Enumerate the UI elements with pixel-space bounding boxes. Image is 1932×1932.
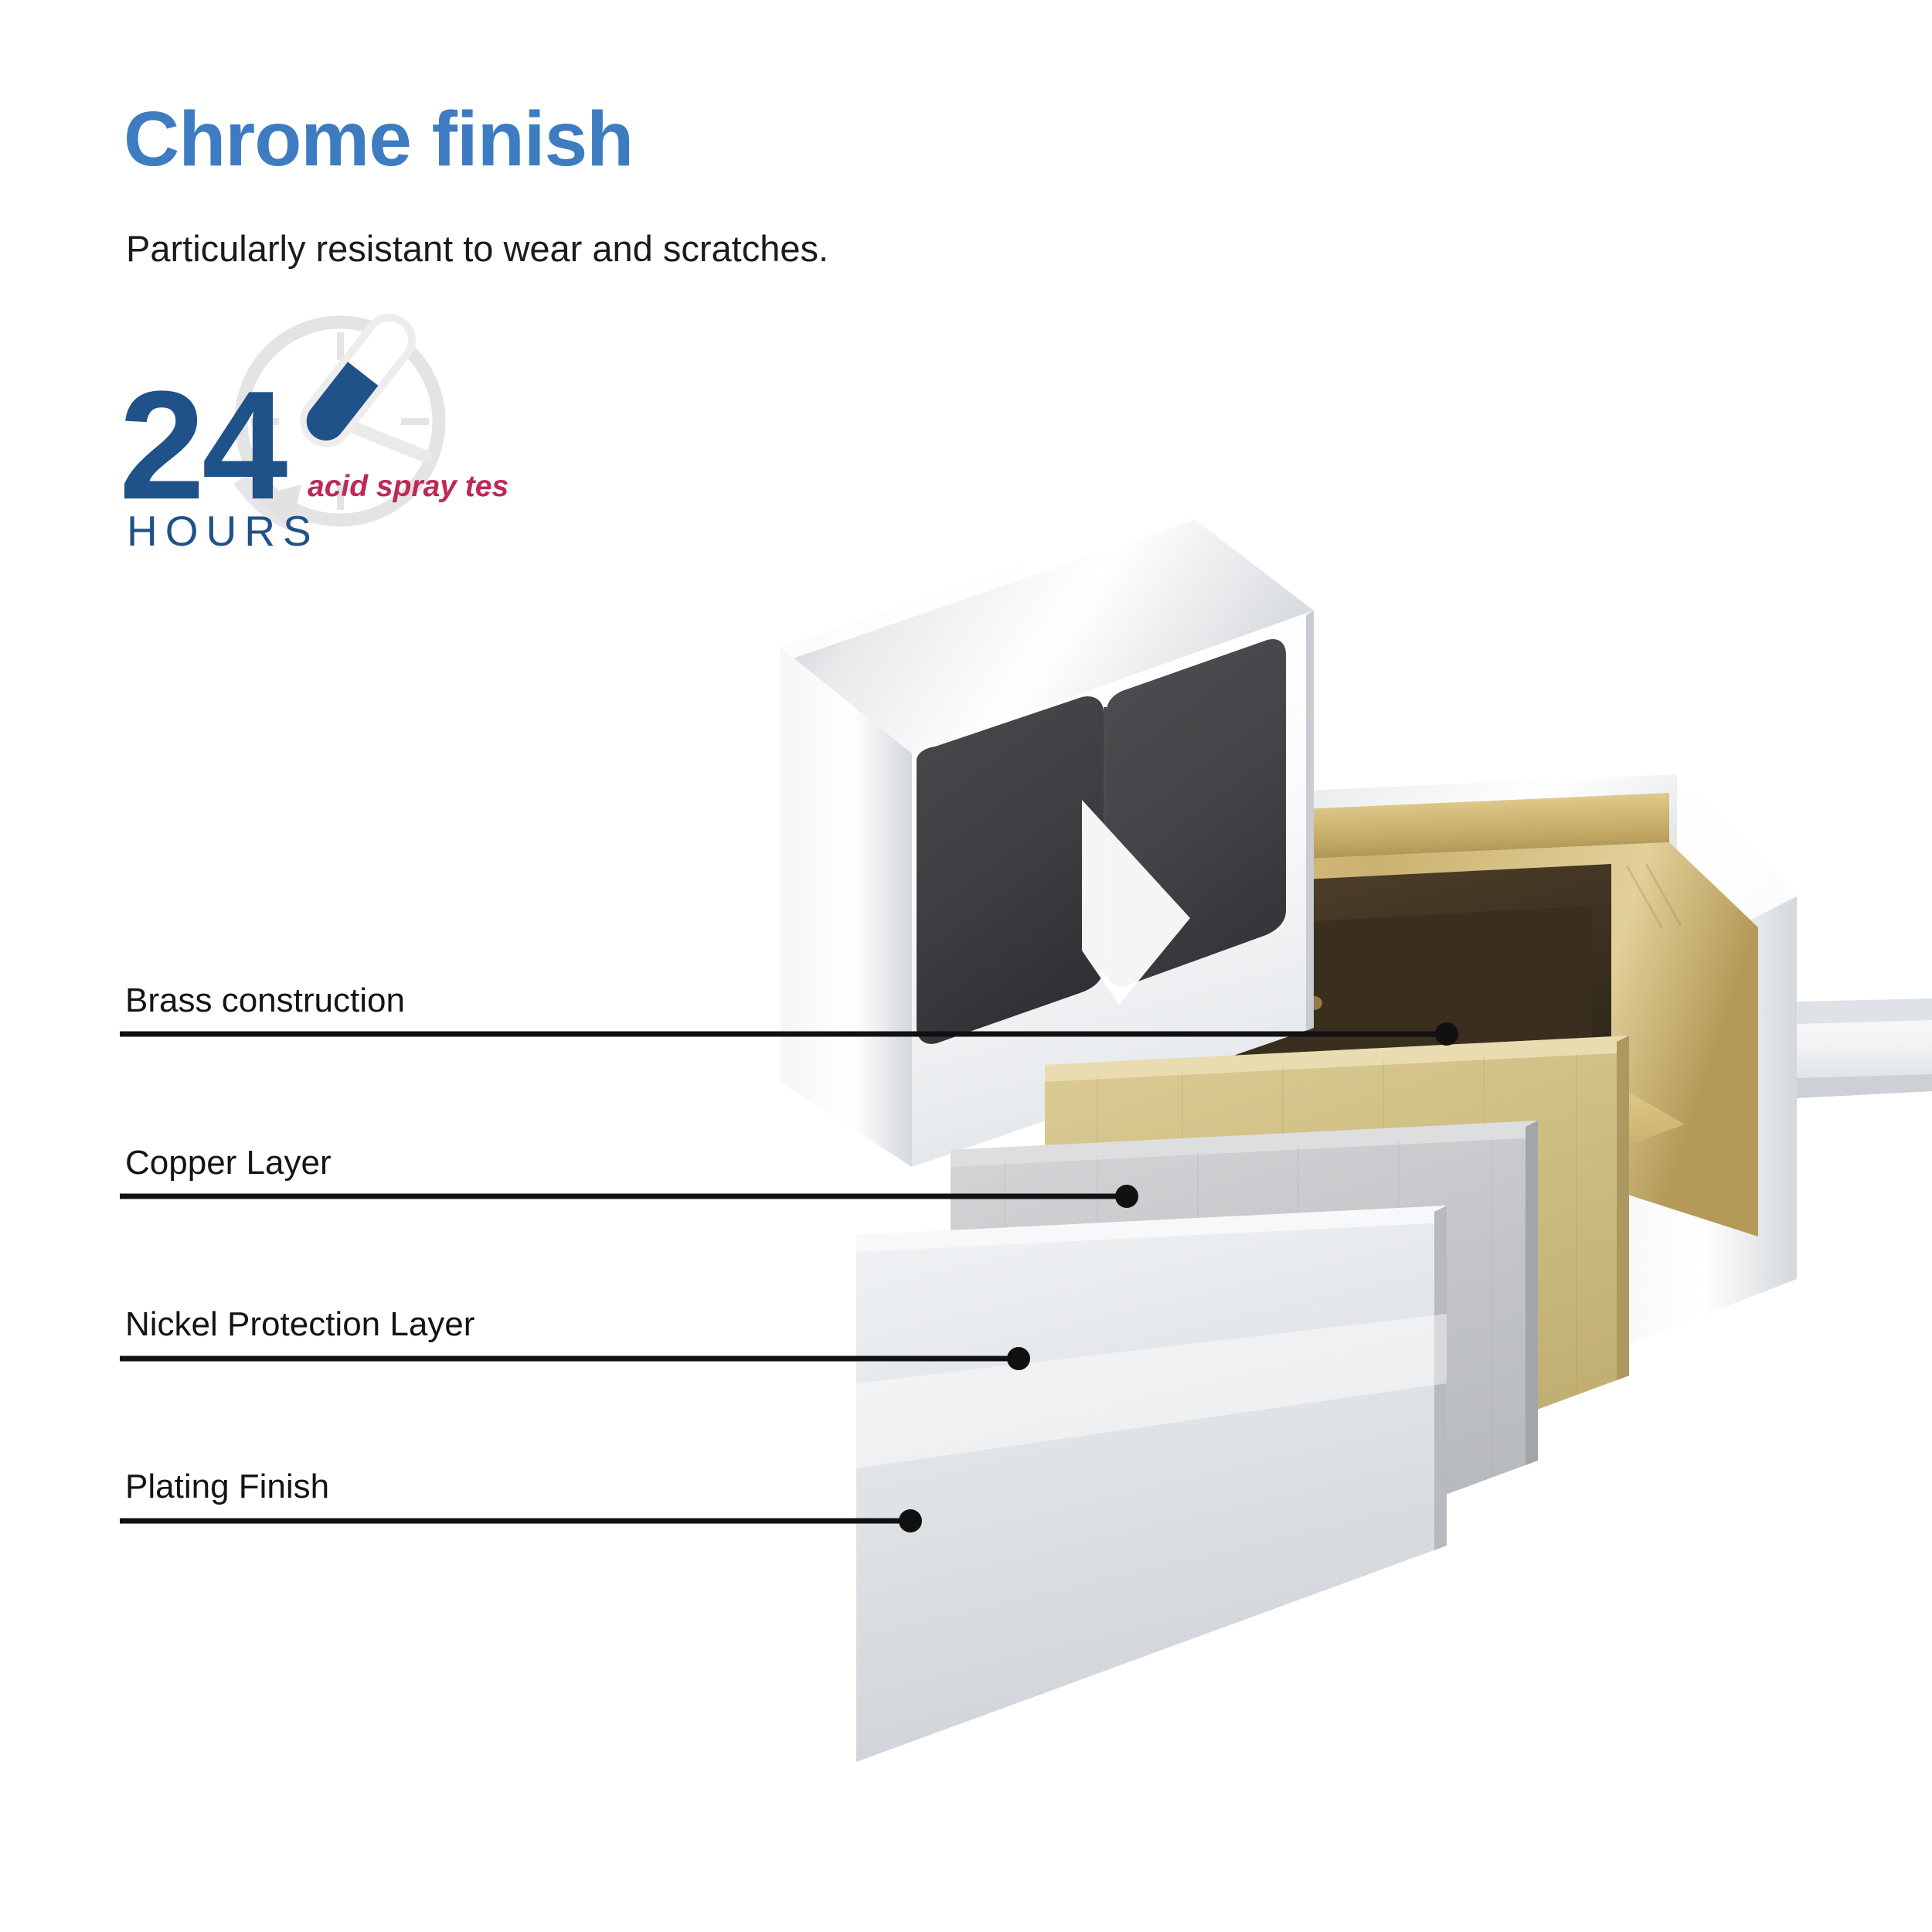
callout-label-copper-layer: Copper Layer bbox=[125, 1146, 332, 1180]
leader-dot-1 bbox=[1115, 1185, 1138, 1208]
callout-label-brass-construction: Brass construction bbox=[125, 984, 405, 1018]
callout-leader-lines bbox=[0, 0, 1932, 1932]
leader-dot-0 bbox=[1435, 1022, 1458, 1046]
leader-dot-3 bbox=[899, 1509, 922, 1532]
callout-label-plating-finish: Plating Finish bbox=[125, 1470, 329, 1504]
infographic-canvas: Chrome finish Particularly resistant to … bbox=[0, 0, 1932, 1932]
leader-dot-2 bbox=[1007, 1347, 1030, 1370]
callout-label-nickel-protection-layer: Nickel Protection Layer bbox=[125, 1308, 474, 1342]
